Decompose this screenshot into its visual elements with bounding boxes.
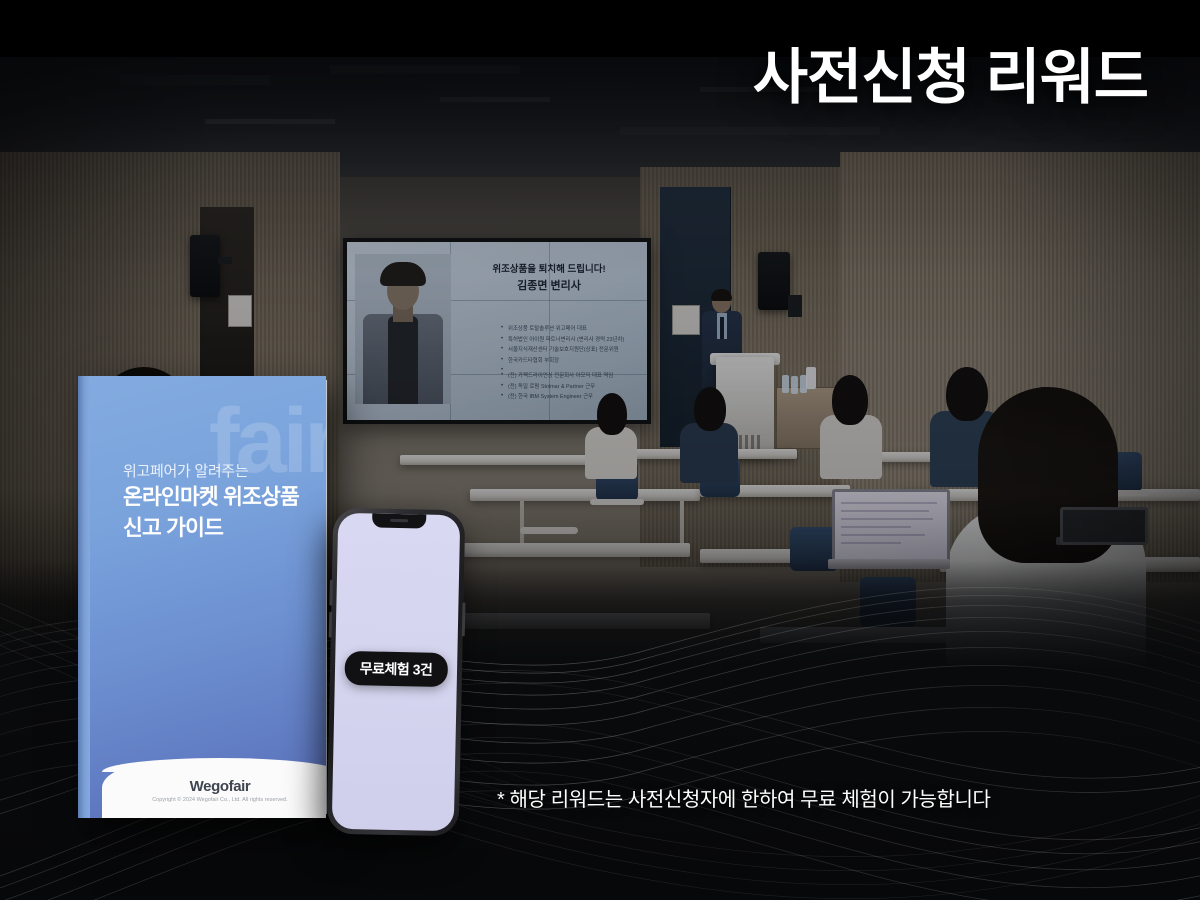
book-spine [78,376,90,818]
phone-screen: 무료체험 3건 [332,513,461,831]
phone-volume-button[interactable] [329,612,333,638]
page-title: 사전신청 리워드 [753,48,1148,108]
promo-banner: 위조상품을 퇴치해 드립니다! 김종면 변리사 위조상품 토탈솔루션 위고페어 … [0,0,1200,900]
book-title: 온라인마켓 위조상품 신고 가이드 [123,482,299,543]
book-title-line1: 온라인마켓 위조상품 [123,482,299,513]
copyright-text: Copyright © 2024 Wegofair Co., Ltd. All … [102,797,326,803]
book-title-line2: 신고 가이드 [123,513,299,544]
phone-speaker-icon [390,519,408,522]
book-footer-band: Wegofair Copyright © 2024 Wegofair Co., … [102,766,326,818]
phone-volume-button[interactable] [329,580,333,606]
phone-mockup: 무료체험 3건 [327,508,466,837]
free-trial-badge: 무료체험 3건 [344,651,447,687]
book-mockup: fair 위고페어가 알려주는 온라인마켓 위조상품 신고 가이드 Wegofa… [78,376,326,818]
book-cover: fair 위고페어가 알려주는 온라인마켓 위조상품 신고 가이드 Wegofa… [90,376,326,818]
footnote-text: * 해당 리워드는 사전신청자에 한하여 무료 체험이 가능합니다 [497,783,990,812]
wegofair-logo: Wegofair [102,778,326,795]
book-subtitle: 위고페어가 알려주는 [123,460,248,481]
